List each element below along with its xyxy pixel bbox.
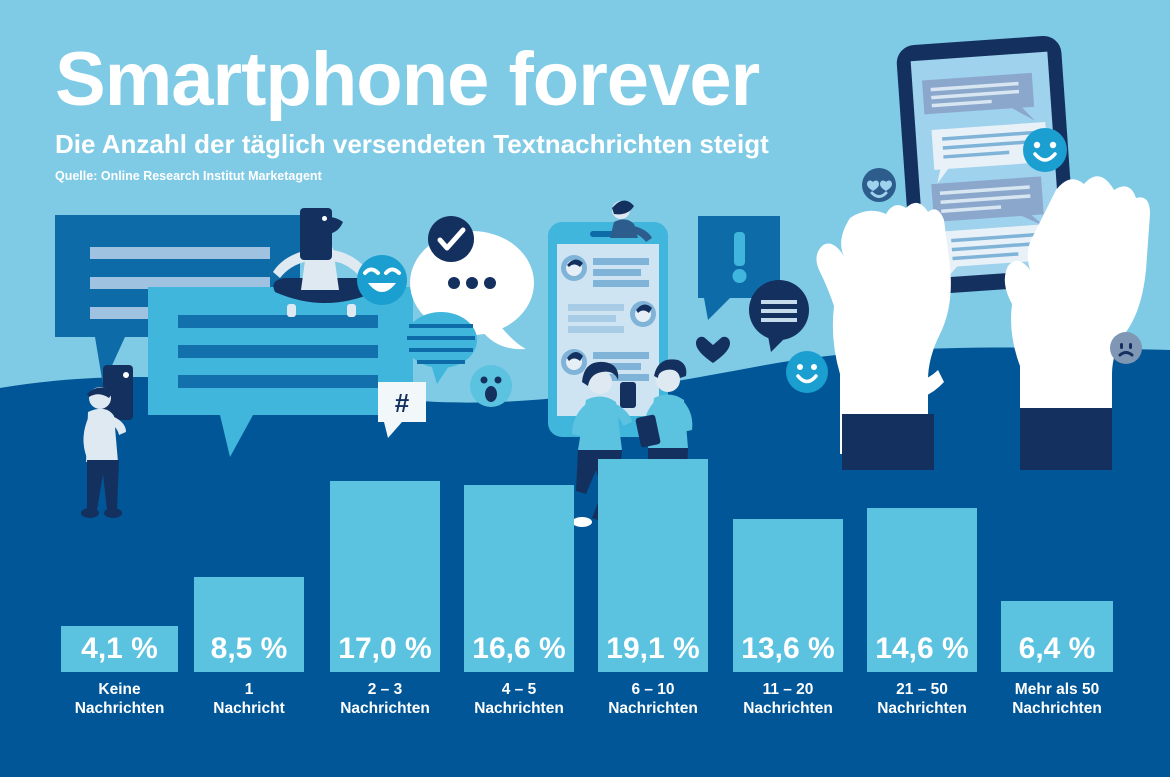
bar-value-box: 4,1 %	[61, 626, 178, 672]
category-label-line1: 21 – 50	[853, 680, 991, 699]
category-label-line1: Mehr als 50	[987, 680, 1127, 699]
bar-category-label: 4 – 5Nachrichten	[450, 680, 588, 718]
category-label-line2: Nachricht	[180, 699, 318, 718]
category-label-line1: 6 – 10	[584, 680, 722, 699]
category-label-line2: Nachrichten	[584, 699, 722, 718]
bar-value-box: 19,1 %	[598, 626, 708, 672]
bar-value-label: 19,1 %	[606, 634, 699, 664]
bar-category-label: 11 – 20Nachrichten	[719, 680, 857, 718]
bar-value-box: 16,6 %	[464, 626, 574, 672]
category-label-line1: Keine	[47, 680, 192, 699]
category-label-line2: Nachrichten	[47, 699, 192, 718]
infographic-canvas: #	[0, 0, 1170, 777]
category-label-line2: Nachrichten	[450, 699, 588, 718]
bar-category-label: 21 – 50Nachrichten	[853, 680, 991, 718]
bar-category-label: 2 – 3Nachrichten	[316, 680, 454, 718]
bar-value-label: 8,5 %	[211, 634, 288, 664]
category-label-line1: 4 – 5	[450, 680, 588, 699]
bar-value-label: 17,0 %	[338, 634, 431, 664]
bar-value-box: 17,0 %	[330, 626, 440, 672]
category-label-line1: 11 – 20	[719, 680, 857, 699]
bar-chart: 4,1 %KeineNachrichten8,5 %1Nachricht17,0…	[0, 0, 1170, 777]
bar-category-label: KeineNachrichten	[47, 680, 192, 718]
bar-value-box: 14,6 %	[867, 626, 977, 672]
bar-value-box: 13,6 %	[733, 626, 843, 672]
category-label-line2: Nachrichten	[316, 699, 454, 718]
bar-category-label: Mehr als 50Nachrichten	[987, 680, 1127, 718]
bar-value-label: 13,6 %	[741, 634, 834, 664]
category-label-line2: Nachrichten	[853, 699, 991, 718]
bar-value-label: 16,6 %	[472, 634, 565, 664]
category-label-line1: 2 – 3	[316, 680, 454, 699]
bar-value-label: 6,4 %	[1019, 634, 1096, 664]
category-label-line1: 1	[180, 680, 318, 699]
bar-category-label: 6 – 10Nachrichten	[584, 680, 722, 718]
category-label-line2: Nachrichten	[719, 699, 857, 718]
category-label-line2: Nachrichten	[987, 699, 1127, 718]
bar-category-label: 1Nachricht	[180, 680, 318, 718]
bar-value-box: 8,5 %	[194, 626, 304, 672]
bar-value-box: 6,4 %	[1001, 626, 1113, 672]
bar-value-label: 14,6 %	[875, 634, 968, 664]
bar-value-label: 4,1 %	[81, 634, 158, 664]
